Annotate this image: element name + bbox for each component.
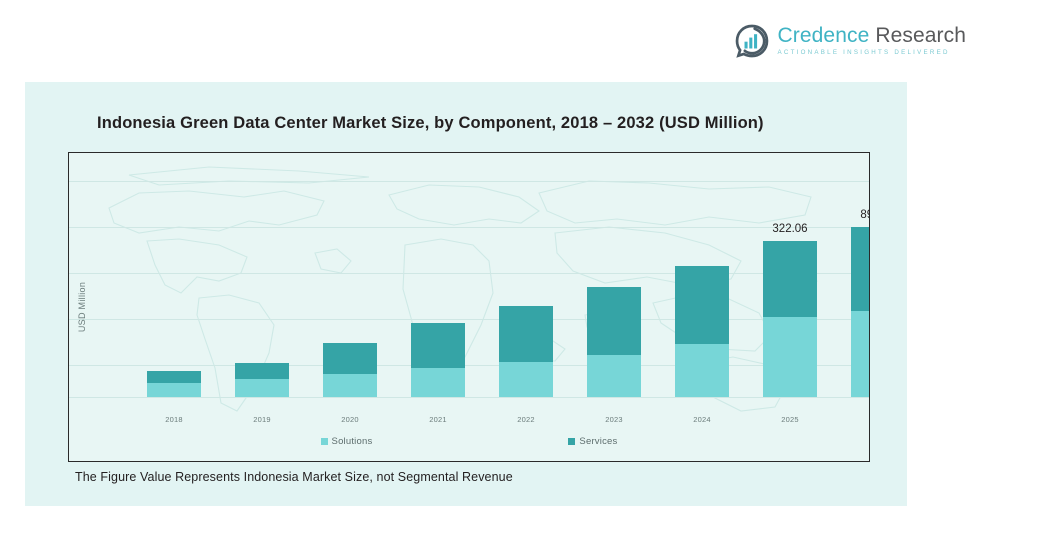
legend-label-solutions: Solutions bbox=[332, 436, 373, 447]
bar-group-2022[interactable]: 2022 bbox=[499, 306, 553, 397]
x-axis-tick-2019: 2019 bbox=[253, 415, 271, 424]
bar-segment-services-2020[interactable] bbox=[323, 343, 377, 374]
legend-label-services: Services bbox=[579, 436, 617, 447]
bar-segment-services-2018[interactable] bbox=[147, 371, 201, 383]
chart-title: Indonesia Green Data Center Market Size,… bbox=[97, 114, 764, 133]
x-axis-tick-2018: 2018 bbox=[165, 415, 183, 424]
chart-footnote: The Figure Value Represents Indonesia Ma… bbox=[75, 470, 513, 484]
brand-name: Credence Research bbox=[778, 25, 966, 46]
brand-logo: Credence Research Actionable Insights De… bbox=[735, 24, 966, 58]
bar-segment-services-2019[interactable] bbox=[235, 363, 289, 379]
bar-value-label-2025: 322.06 bbox=[772, 223, 807, 235]
bar-segment-solutions-2023[interactable] bbox=[587, 355, 641, 397]
bar-segment-solutions-2020[interactable] bbox=[323, 374, 377, 397]
brand-text: Credence Research Actionable Insights De… bbox=[778, 25, 966, 56]
x-axis-tick-2022: 2022 bbox=[517, 415, 535, 424]
bar-segment-services-2021[interactable] bbox=[411, 323, 465, 368]
legend-item-solutions[interactable]: Solutions bbox=[321, 436, 373, 447]
brand-tagline: Actionable Insights Delivered bbox=[778, 50, 966, 56]
x-axis-tick-2021: 2021 bbox=[429, 415, 447, 424]
x-axis-tick-2020: 2020 bbox=[341, 415, 359, 424]
brand-name-secondary: Research bbox=[875, 24, 966, 47]
bar-segment-services-2032[interactable] bbox=[851, 227, 870, 311]
bar-segment-solutions-2021[interactable] bbox=[411, 368, 465, 397]
x-axis-tick-2024: 2024 bbox=[693, 415, 711, 424]
brand-name-primary: Credence bbox=[778, 24, 870, 47]
bar-series-container: 2018201920202021202220232024322.06202589… bbox=[69, 153, 869, 461]
bar-group-2024[interactable]: 2024 bbox=[675, 266, 729, 397]
bar-segment-services-2024[interactable] bbox=[675, 266, 729, 344]
plot-area: USD Million 2018201920202021202220232024… bbox=[68, 152, 870, 462]
bar-segment-services-2025[interactable] bbox=[763, 241, 817, 317]
chart-legend: Solutions Services bbox=[69, 436, 869, 447]
bar-segment-services-2023[interactable] bbox=[587, 287, 641, 355]
bar-group-2018[interactable]: 2018 bbox=[147, 371, 201, 397]
credence-chart-bubble-logo-icon bbox=[735, 24, 769, 58]
x-axis-tick-2032: 2032 bbox=[869, 415, 870, 424]
legend-swatch-solutions bbox=[321, 438, 328, 445]
chart-panel: Indonesia Green Data Center Market Size,… bbox=[25, 82, 907, 506]
bar-segment-services-2022[interactable] bbox=[499, 306, 553, 362]
bar-group-2021[interactable]: 2021 bbox=[411, 323, 465, 397]
x-axis-tick-2025: 2025 bbox=[781, 415, 799, 424]
bar-segment-solutions-2025[interactable] bbox=[763, 317, 817, 397]
bar-group-2019[interactable]: 2019 bbox=[235, 363, 289, 397]
bar-segment-solutions-2019[interactable] bbox=[235, 379, 289, 397]
bar-group-2020[interactable]: 2020 bbox=[323, 343, 377, 397]
bar-value-label-2032: 891.86 bbox=[860, 209, 870, 221]
bar-group-2023[interactable]: 2023 bbox=[587, 287, 641, 397]
x-axis-tick-2023: 2023 bbox=[605, 415, 623, 424]
bar-segment-solutions-2032[interactable] bbox=[851, 311, 870, 397]
bar-group-2032[interactable]: 891.862032 bbox=[851, 227, 870, 397]
bar-segment-solutions-2024[interactable] bbox=[675, 344, 729, 397]
bar-segment-solutions-2022[interactable] bbox=[499, 362, 553, 397]
legend-swatch-services bbox=[568, 438, 575, 445]
bar-segment-solutions-2018[interactable] bbox=[147, 383, 201, 397]
bar-group-2025[interactable]: 322.062025 bbox=[763, 241, 817, 397]
legend-item-services[interactable]: Services bbox=[568, 436, 617, 447]
